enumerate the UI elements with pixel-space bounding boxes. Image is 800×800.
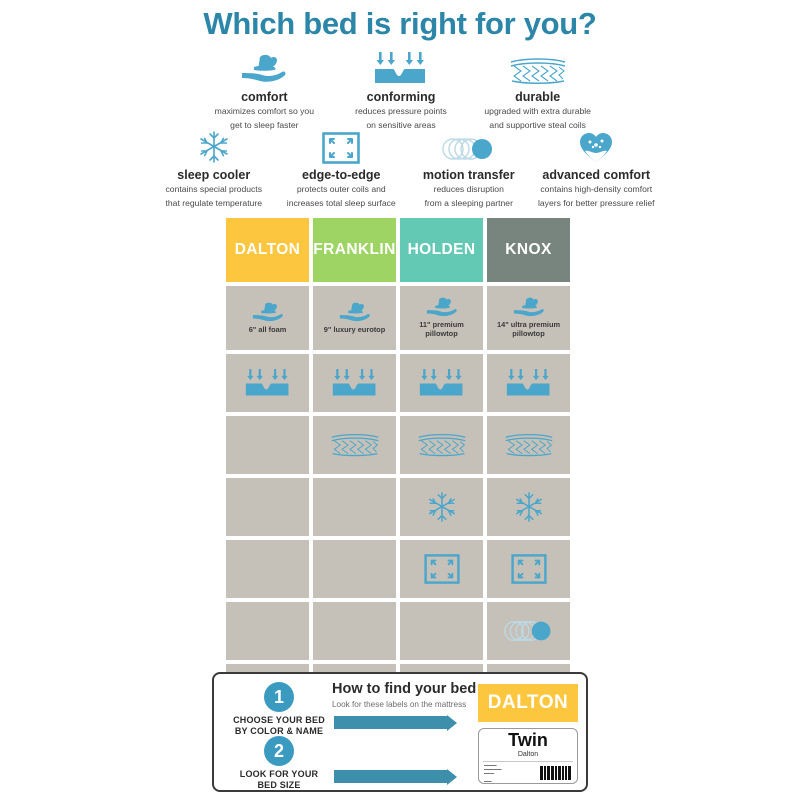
grid-cell[interactable] <box>313 354 396 412</box>
infographic-page: Which bed is right for you? comfort maxi… <box>0 0 800 800</box>
grid-cell[interactable] <box>487 354 570 412</box>
barcode-icon <box>540 764 573 780</box>
step-text-line2: BED SIZE <box>226 780 332 791</box>
grid-cell[interactable]: 14" ultra premium pillowtop <box>487 286 570 350</box>
column-header-holden[interactable]: HOLDEN <box>400 218 483 282</box>
comfort-hand-icon <box>248 302 288 324</box>
feature-row-primary: comfort maximizes comfort so you get to … <box>196 52 606 131</box>
grid-cell[interactable] <box>400 416 483 474</box>
feature-name: sleep cooler <box>154 168 274 182</box>
cell-label: 11" premium pillowtop <box>400 321 483 338</box>
feature-desc-line1: reduces disruption <box>409 184 529 195</box>
grid-cell[interactable] <box>487 602 570 660</box>
feature-name: advanced comfort <box>537 168 657 182</box>
cell-label: 9" luxury eurotop <box>322 326 387 335</box>
feature-name: durable <box>473 90 602 104</box>
grid-cell[interactable] <box>487 478 570 536</box>
conforming-arrows-icon <box>337 52 466 86</box>
label-divider <box>483 761 573 762</box>
label-name: Dalton <box>479 751 577 758</box>
panel-heading: How to find your bed <box>332 682 480 698</box>
feature-desc-line1: upgraded with extra durable <box>473 106 602 117</box>
edge-to-edge-icon <box>511 554 547 584</box>
panel-heading-block: How to find your bed Look for these labe… <box>332 682 480 709</box>
grid-cell[interactable]: 9" luxury eurotop <box>313 286 396 350</box>
grid-cell-empty[interactable] <box>226 478 309 536</box>
arrow-step-2-icon <box>334 770 457 783</box>
feature-edge-to-edge: edge-to-edge protects outer coils and in… <box>278 130 406 209</box>
feature-desc-line1: reduces pressure points <box>337 106 466 117</box>
feature-desc-line2: that regulate temperature <box>154 198 274 209</box>
cell-label: 6" all foam <box>247 326 289 335</box>
conforming-arrows-icon <box>331 369 379 398</box>
feature-desc-line1: maximizes comfort so you <box>200 106 329 117</box>
column-header-franklin[interactable]: FRANKLIN <box>313 218 396 282</box>
grid-row-comfort: 6" all foam 9" luxury eurotop 11" premiu… <box>226 286 574 350</box>
step-number: 2 <box>264 736 294 766</box>
feature-conforming: conforming reduces pressure points on se… <box>333 52 470 131</box>
durable-coils-icon <box>417 432 467 458</box>
comfort-hand-icon <box>200 52 329 86</box>
column-header-dalton[interactable]: DALTON <box>226 218 309 282</box>
step-text-line1: CHOOSE YOUR BED <box>226 715 332 726</box>
feature-sleep-cooler: sleep cooler contains special products t… <box>150 130 278 209</box>
cell-label: 14" ultra premium pillowtop <box>487 321 570 338</box>
feature-desc-line2: from a sleeping partner <box>409 198 529 209</box>
feature-motion-transfer: motion transfer reduces disruption from … <box>405 130 533 209</box>
grid-cell-empty[interactable] <box>226 602 309 660</box>
snowflake-icon <box>154 130 274 164</box>
grid-cell[interactable] <box>400 478 483 536</box>
grid-cell[interactable]: 11" premium pillowtop <box>400 286 483 350</box>
feature-desc-line1: contains special products <box>154 184 274 195</box>
arrow-step-1-icon <box>334 716 457 729</box>
grid-row-motion-transfer <box>226 602 574 660</box>
grid-row-durable <box>226 416 574 474</box>
durable-coils-icon <box>330 432 380 458</box>
grid-cell[interactable] <box>400 354 483 412</box>
grid-cell-empty[interactable] <box>400 602 483 660</box>
edge-to-edge-icon <box>424 554 460 584</box>
step-1: 1 CHOOSE YOUR BED BY COLOR & NAME <box>226 682 332 737</box>
grid-cell[interactable] <box>487 416 570 474</box>
comfort-hand-icon <box>509 297 549 319</box>
durable-coils-icon <box>504 432 554 458</box>
grid-cell-empty[interactable] <box>226 416 309 474</box>
motion-transfer-icon <box>503 617 555 645</box>
panel-subheading: Look for these labels on the mattress <box>332 700 480 709</box>
snowflake-icon <box>426 491 458 523</box>
comparison-grid: DALTON FRANKLIN HOLDEN KNOX 6" all foam … <box>226 218 574 726</box>
grid-row-conforming <box>226 354 574 412</box>
feature-advanced-comfort: advanced comfort contains high-density c… <box>533 130 661 209</box>
feature-durable: durable upgraded with extra durable and … <box>469 52 606 131</box>
grid-cell-empty[interactable] <box>226 540 309 598</box>
step-text-line2: BY COLOR & NAME <box>226 726 332 737</box>
feature-name: comfort <box>200 90 329 104</box>
step-number: 1 <box>264 682 294 712</box>
feature-desc-line1: protects outer coils and <box>282 184 402 195</box>
feature-name: edge-to-edge <box>282 168 402 182</box>
mattress-size-label: Twin Dalton ▬▬▬▬▬▬▬▬▬▬▬▬▬▬▬▬▬▬▬▬▬ <box>478 728 578 784</box>
grid-cell[interactable]: 6" all foam <box>226 286 309 350</box>
comfort-hand-icon <box>335 302 375 324</box>
grid-cell-empty[interactable] <box>313 478 396 536</box>
grid-cell[interactable] <box>313 416 396 474</box>
label-size: Twin <box>479 731 577 749</box>
feature-row-secondary: sleep cooler contains special products t… <box>150 130 660 209</box>
motion-transfer-icon <box>409 130 529 164</box>
grid-cell-empty[interactable] <box>313 602 396 660</box>
edge-to-edge-icon <box>282 130 402 164</box>
step-2: 2 LOOK FOR YOUR BED SIZE <box>226 736 332 791</box>
snowflake-icon <box>513 491 545 523</box>
comfort-hand-icon <box>422 297 462 319</box>
conforming-arrows-icon <box>505 369 553 398</box>
feature-desc-line2: layers for better pressure relief <box>537 198 657 209</box>
feature-comfort: comfort maximizes comfort so you get to … <box>196 52 333 131</box>
conforming-arrows-icon <box>418 369 466 398</box>
page-title: Which bed is right for you? <box>0 6 800 42</box>
feature-desc-line2: increases total sleep surface <box>282 198 402 209</box>
grid-cell[interactable] <box>400 540 483 598</box>
how-to-find-panel: 1 CHOOSE YOUR BED BY COLOR & NAME 2 LOOK… <box>212 672 588 792</box>
grid-cell[interactable] <box>487 540 570 598</box>
feature-name: motion transfer <box>409 168 529 182</box>
grid-header-row: DALTON FRANKLIN HOLDEN KNOX <box>226 218 574 282</box>
advanced-comfort-heart-icon <box>537 130 657 164</box>
durable-coils-icon <box>473 52 602 86</box>
feature-desc-line1: contains high-density comfort <box>537 184 657 195</box>
step-text-line1: LOOK FOR YOUR <box>226 769 332 780</box>
grid-row-sleep-cooler <box>226 478 574 536</box>
grid-cell-empty[interactable] <box>313 540 396 598</box>
column-header-knox[interactable]: KNOX <box>487 218 570 282</box>
grid-cell[interactable] <box>226 354 309 412</box>
color-name-tag: DALTON <box>478 684 578 722</box>
label-fine-print: ▬▬▬▬▬▬▬▬▬▬▬▬▬▬▬▬▬▬▬▬▬ <box>484 764 501 784</box>
grid-row-edge-to-edge <box>226 540 574 598</box>
conforming-arrows-icon <box>244 369 292 398</box>
feature-name: conforming <box>337 90 466 104</box>
